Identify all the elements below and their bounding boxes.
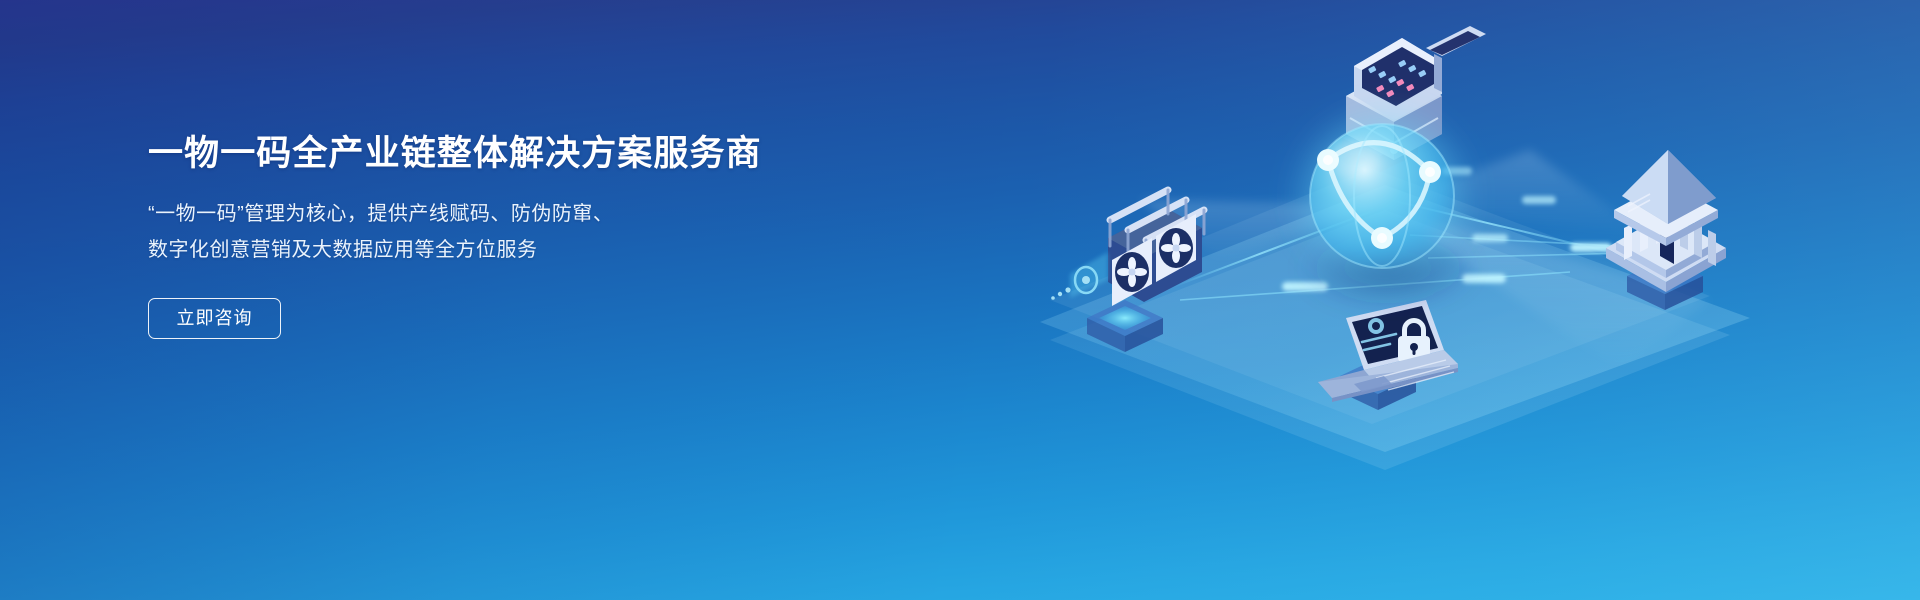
hero-illustration <box>1010 0 1920 600</box>
page-title: 一物一码全产业链整体解决方案服务商 <box>148 132 808 176</box>
consult-now-button[interactable]: 立即咨询 <box>148 298 281 339</box>
subtitle-line-1: “一物一码”管理为核心，提供产线赋码、防伪防窜、 <box>148 196 808 232</box>
hero-copy: 一物一码全产业链整体解决方案服务商 “一物一码”管理为核心，提供产线赋码、防伪防… <box>148 132 808 339</box>
data-sphere <box>1286 100 1478 306</box>
hero-subtitle: “一物一码”管理为核心，提供产线赋码、防伪防窜、 数字化创意营销及大数据应用等全… <box>148 196 808 268</box>
hero-banner: 一物一码全产业链整体解决方案服务商 “一物一码”管理为核心，提供产线赋码、防伪防… <box>0 0 1920 600</box>
subtitle-line-2: 数字化创意营销及大数据应用等全方位服务 <box>148 232 808 268</box>
